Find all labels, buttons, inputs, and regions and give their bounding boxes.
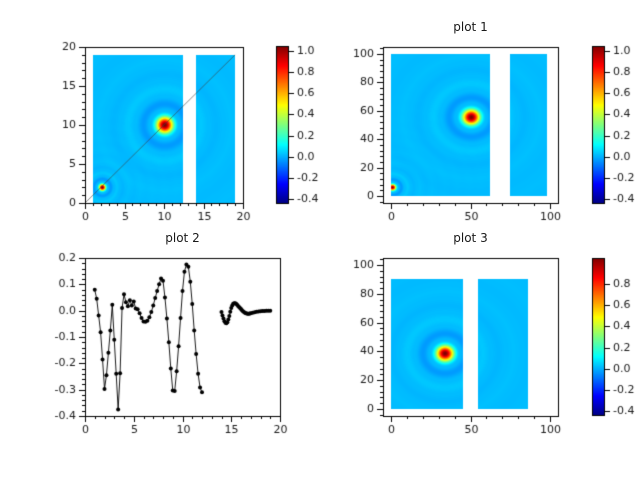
panel-top-left[interactable] [0, 0, 320, 235]
heatmap-top-left[interactable] [0, 0, 320, 235]
panel-bottom-right[interactable]: plot 3 [320, 235, 640, 480]
lineplot-plot-2[interactable] [0, 235, 320, 480]
figure-canvas: plot 1 plot 2 plot 3 [0, 0, 640, 480]
heatmap-plot-1[interactable] [320, 0, 640, 235]
heatmap-plot-3[interactable] [320, 235, 640, 480]
panel-top-right[interactable]: plot 1 [320, 0, 640, 235]
panel-bottom-left[interactable]: plot 2 [0, 235, 320, 480]
